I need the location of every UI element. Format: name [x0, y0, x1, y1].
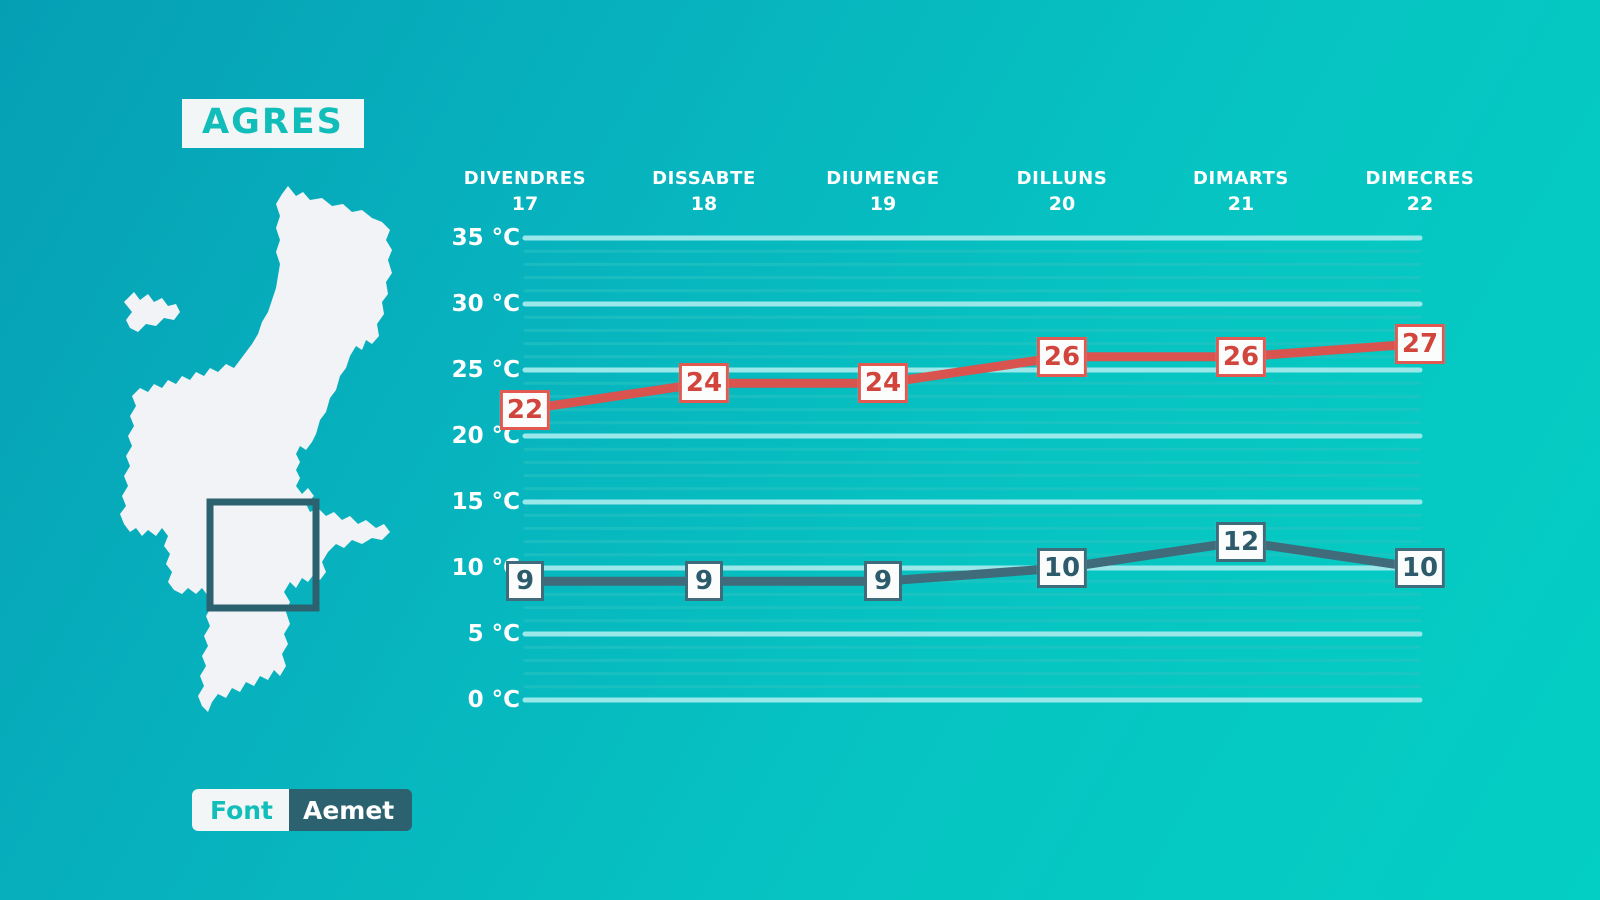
day-column: DILLUNS20 [962, 168, 1162, 215]
value-label-max: 24 [679, 363, 729, 403]
value-label-max: 27 [1395, 324, 1445, 364]
location-title-box: AGRES [182, 99, 364, 148]
day-column: DIVENDRES17 [425, 168, 625, 215]
day-name: DISSABTE [604, 168, 804, 189]
series-line-min [525, 542, 1420, 582]
day-name: DIUMENGE [783, 168, 983, 189]
day-header-row: DIVENDRES17DISSABTE18DIUMENGE19DILLUNS20… [420, 168, 1540, 230]
value-label-max: 24 [858, 363, 908, 403]
value-label-min: 10 [1037, 548, 1087, 588]
day-number: 21 [1141, 193, 1341, 215]
source-value: Aemet [289, 789, 412, 831]
map-svg [100, 178, 420, 753]
source-credit: Font Aemet [192, 789, 412, 831]
map-valencian-community [100, 178, 420, 753]
day-name: DIMECRES [1320, 168, 1520, 189]
value-label-min: 12 [1216, 522, 1266, 562]
value-label-max: 26 [1037, 337, 1087, 377]
day-column: DIMARTS21 [1141, 168, 1341, 215]
day-name: DILLUNS [962, 168, 1162, 189]
day-column: DIMECRES22 [1320, 168, 1520, 215]
day-number: 22 [1320, 193, 1520, 215]
map-island-shape [124, 292, 180, 332]
day-number: 19 [783, 193, 983, 215]
day-number: 18 [604, 193, 804, 215]
value-label-min: 9 [506, 561, 544, 601]
value-label-max: 26 [1216, 337, 1266, 377]
day-column: DIUMENGE19 [783, 168, 983, 215]
series-line-max [525, 344, 1420, 410]
day-name: DIVENDRES [425, 168, 625, 189]
value-label-max: 22 [500, 390, 550, 430]
source-label: Font [192, 789, 289, 831]
value-label-min: 9 [864, 561, 902, 601]
chart-series-lines [420, 230, 1540, 710]
day-column: DISSABTE18 [604, 168, 804, 215]
day-number: 17 [425, 193, 625, 215]
temperature-forecast-chart: DIVENDRES17DISSABTE18DIUMENGE19DILLUNS20… [420, 168, 1540, 728]
value-label-min: 10 [1395, 548, 1445, 588]
day-name: DIMARTS [1141, 168, 1341, 189]
map-region-shape [120, 186, 392, 712]
chart-plot-area: 222424262627999101210 [420, 230, 1540, 710]
value-label-min: 9 [685, 561, 723, 601]
day-number: 20 [962, 193, 1162, 215]
page-title: AGRES [202, 105, 344, 140]
